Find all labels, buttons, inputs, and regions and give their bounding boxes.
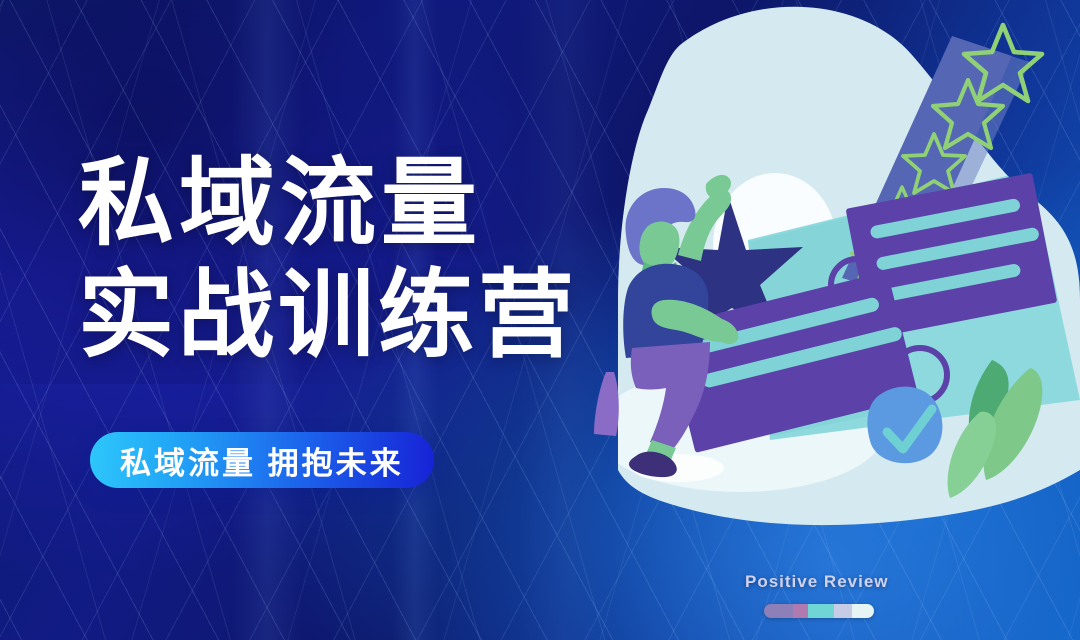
segment-white <box>852 604 874 618</box>
headline-line-1: 私域流量 <box>78 148 678 260</box>
promo-banner: 私域流量 实战训练营 私域流量 拥抱未来 Positive Review <box>0 0 1080 640</box>
tagline-text: 私域流量 拥抱未来 <box>120 438 404 483</box>
caption-label: Positive Review <box>745 572 889 592</box>
headline-line-2: 实战训练营 <box>78 260 678 372</box>
check-badge <box>867 387 942 464</box>
segment-mauve <box>764 604 793 618</box>
segment-lilac <box>834 604 852 618</box>
segment-pink <box>793 604 808 618</box>
progress-bar <box>764 604 874 618</box>
tagline-pill[interactable]: 私域流量 拥抱未来 <box>90 432 434 488</box>
headline-block: 私域流量 实战训练营 <box>78 148 678 372</box>
segment-cyan <box>808 604 834 618</box>
